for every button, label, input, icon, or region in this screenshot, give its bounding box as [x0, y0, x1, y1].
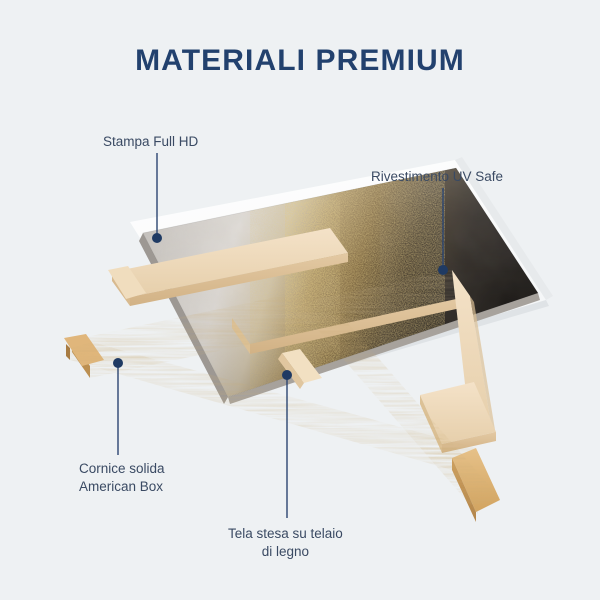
- product-materials-infographic: MATERIALI PREMIUM Stampa Full HD Rivesti…: [0, 0, 600, 600]
- callout-label-uv-coating: Rivestimento UV Safe: [371, 168, 503, 186]
- callout-label-solid-frame: Cornice solida American Box: [79, 460, 165, 496]
- page-title: MATERIALI PREMIUM: [0, 44, 600, 78]
- callout-label-print: Stampa Full HD: [103, 133, 198, 151]
- callout-label-stretched-canvas: Tela stesa su telaio di legno: [228, 525, 343, 561]
- exploded-product-diagram: [0, 0, 600, 600]
